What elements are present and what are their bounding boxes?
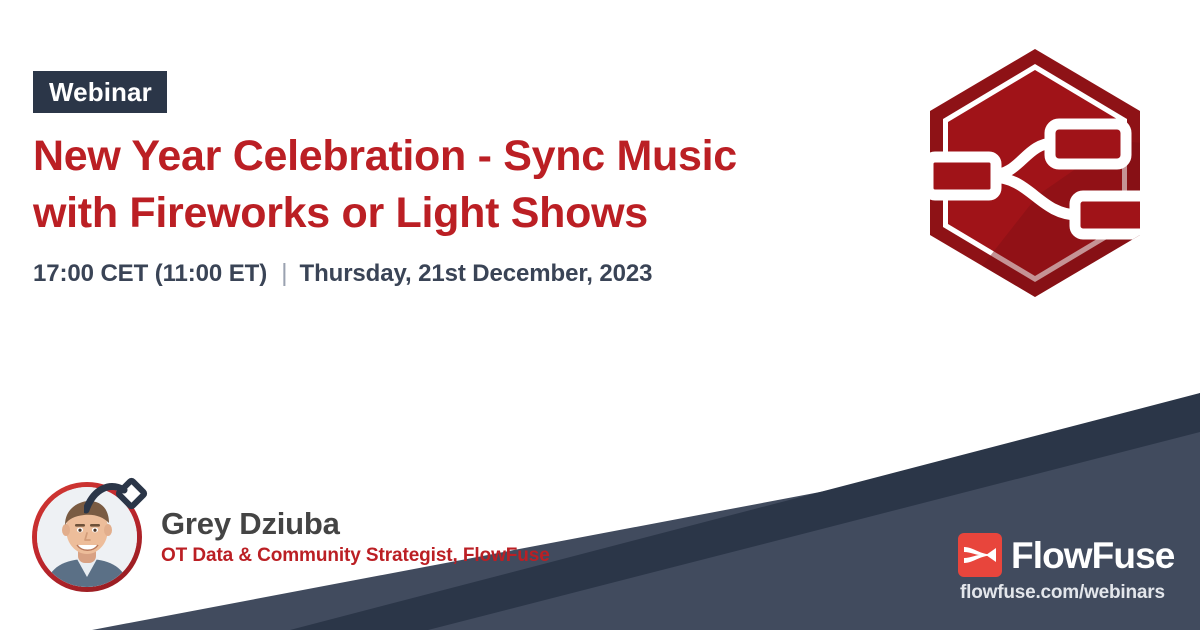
speaker-role: OT Data & Community Strategist, FlowFuse — [161, 545, 550, 567]
speaker-name: Grey Dziuba — [161, 507, 550, 542]
page-title-line-2: with Fireworks or Light Shows — [33, 185, 883, 242]
avatar — [32, 482, 142, 592]
page-title-line-1: New Year Celebration - Sync Music — [33, 128, 883, 185]
flowfuse-logo-row: FlowFuse — [958, 533, 1178, 577]
node-red-hexagon-icon — [920, 45, 1168, 307]
page-title: New Year Celebration - Sync Music with F… — [33, 128, 883, 242]
event-datetime: 17:00 CET (11:00 ET) | Thursday, 21st De… — [33, 259, 652, 288]
speaker-text: Grey Dziuba OT Data & Community Strategi… — [161, 507, 550, 567]
node-wire-diamond-icon — [84, 476, 154, 528]
event-time: 17:00 CET (11:00 ET) — [33, 260, 267, 288]
event-date: Thursday, 21st December, 2023 — [300, 260, 653, 288]
event-separator: | — [281, 259, 287, 288]
hexagon-node-left — [928, 157, 996, 195]
hexagon-node-bottom-right — [1075, 196, 1151, 234]
speaker-block: Grey Dziuba OT Data & Community Strategi… — [32, 482, 550, 592]
flowfuse-url: flowfuse.com/webinars — [960, 583, 1178, 604]
hexagon-node-top-right — [1050, 124, 1126, 164]
flowfuse-wordmark: FlowFuse — [1011, 537, 1174, 574]
flowfuse-logo-icon — [958, 533, 1002, 577]
webinar-promo-card: Webinar New Year Celebration - Sync Musi… — [0, 0, 1200, 630]
webinar-badge: Webinar — [33, 71, 167, 113]
flowfuse-brand: FlowFuse flowfuse.com/webinars — [958, 533, 1178, 604]
